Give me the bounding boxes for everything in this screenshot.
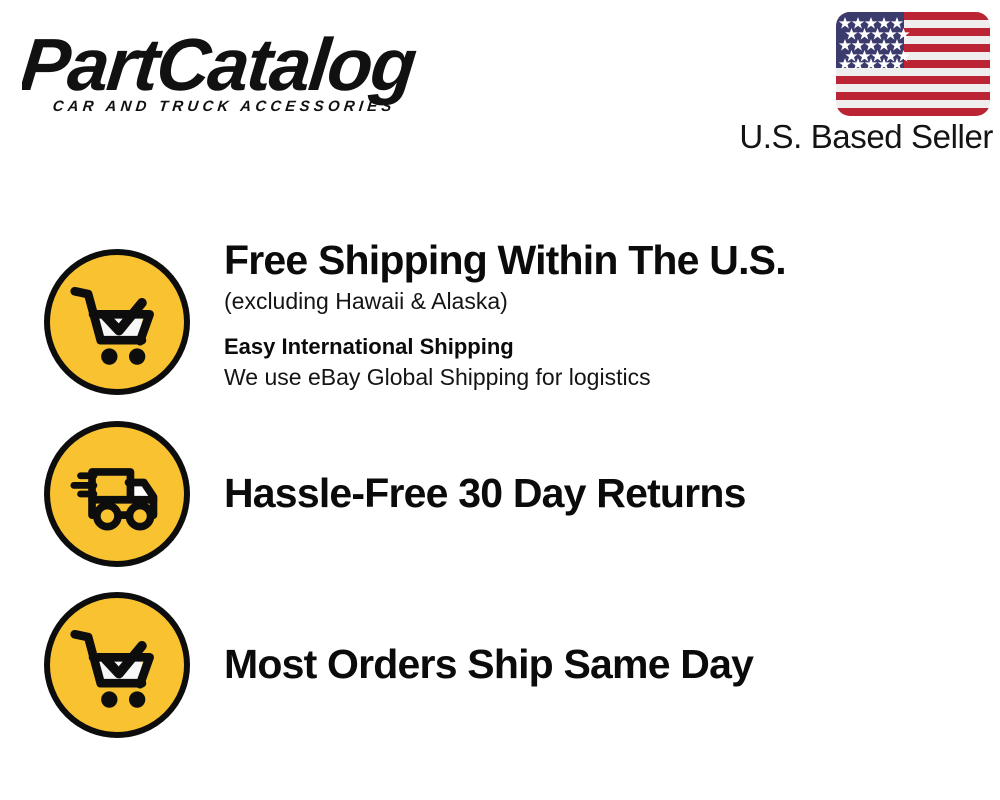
svg-text:CAR AND TRUCK ACCESSORIES: CAR AND TRUCK ACCESSORIES bbox=[52, 98, 397, 114]
feature-heading: Most Orders Ship Same Day bbox=[224, 641, 964, 687]
feature-text-block: Most Orders Ship Same Day bbox=[224, 641, 964, 687]
feature-subtext-international-heading: Easy International Shipping bbox=[224, 332, 964, 362]
feature-subtext-exclusions: (excluding Hawaii & Alaska) bbox=[224, 286, 964, 316]
shipping-info-banner: PartCatalog CAR AND TRUCK ACCESSORIES bbox=[0, 0, 1000, 800]
shopping-cart-check-icon bbox=[44, 249, 190, 395]
us-based-seller-label: U.S. Based Seller bbox=[723, 117, 993, 157]
delivery-truck-icon bbox=[44, 421, 190, 567]
shopping-cart-check-icon bbox=[44, 592, 190, 738]
feature-heading: Free Shipping Within The U.S. bbox=[224, 237, 964, 283]
feature-text-block: Free Shipping Within The U.S. (excluding… bbox=[224, 237, 964, 392]
feature-subtext-logistics: We use eBay Global Shipping for logistic… bbox=[224, 362, 964, 392]
svg-text:PartCatalog: PartCatalog bbox=[22, 23, 420, 106]
partcatalog-logo: PartCatalog CAR AND TRUCK ACCESSORIES bbox=[22, 18, 492, 114]
feature-heading: Hassle-Free 30 Day Returns bbox=[224, 470, 964, 516]
feature-text-block: Hassle-Free 30 Day Returns bbox=[224, 470, 964, 516]
us-flag-icon bbox=[836, 12, 990, 116]
